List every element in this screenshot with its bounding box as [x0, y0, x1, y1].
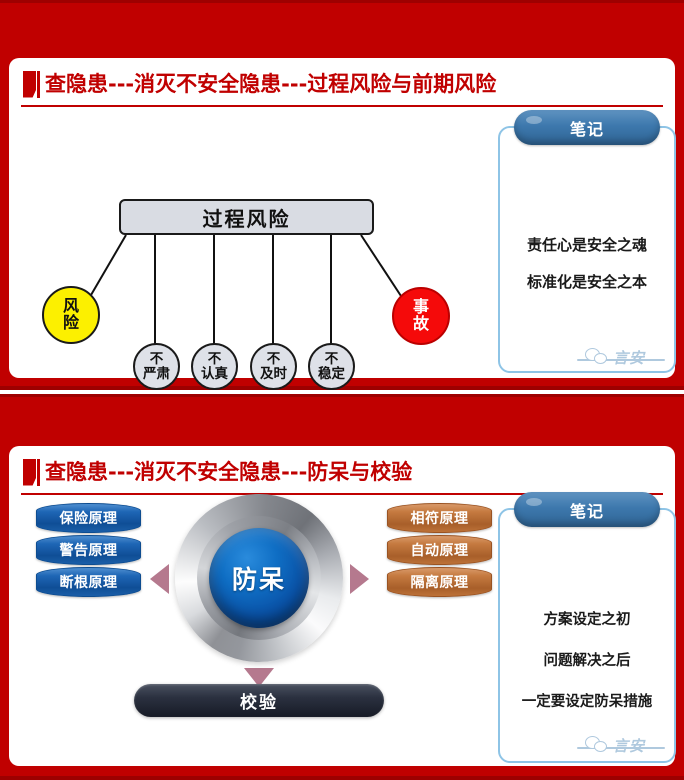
arrow-right-icon [350, 564, 369, 594]
right-principles-stack: 相符原理 自动原理 隔离原理 [387, 503, 492, 597]
slide2-notes-panel: 笔记 方案设定之初 问题解决之后 一定要设定防呆措施 [498, 508, 676, 763]
notes-header-badge: 笔记 [514, 492, 660, 527]
branch-line2: 稳定 [318, 367, 345, 381]
wechat-bubbles-icon: 言安 [577, 734, 665, 760]
wechat-bubbles-icon: 言安 [577, 346, 665, 372]
node-risk-line2: 险 [63, 315, 79, 332]
poka-yoke-diagram: 保险原理 警告原理 断根原理 相符原理 自动原理 隔离原理 防呆 校验 [9, 446, 489, 766]
process-risk-header-box: 过程风险 [119, 199, 374, 235]
notes-line: 标准化是安全之本 [527, 271, 647, 292]
branch-line2: 认真 [201, 367, 228, 381]
node-branch: 不 严肃 [133, 343, 180, 390]
slide-process-risk: 查隐患---消灭不安全隐患---过程风险与前期风险 过程风险 风 险 事 故 [0, 0, 684, 390]
center-ring-graphic: 防呆 [175, 494, 343, 662]
principle-item: 相符原理 [387, 503, 492, 533]
node-accident-line2: 故 [413, 316, 429, 333]
principle-item: 自动原理 [387, 535, 492, 565]
branch-line2: 严肃 [143, 367, 170, 381]
slide2-top-strip [0, 394, 684, 397]
principle-item: 保险原理 [36, 503, 141, 533]
branch-line2: 及时 [260, 367, 287, 381]
notes-header-badge: 笔记 [514, 110, 660, 145]
slide2-card: 查隐患---消灭不安全隐患---防呆与校验 保险原理 警告原理 断根原理 相符原… [9, 446, 675, 766]
branch-line1: 不 [267, 352, 281, 366]
principle-item: 警告原理 [36, 535, 141, 565]
watermark-text: 言安 [613, 735, 645, 756]
notes-line: 问题解决之后 [544, 649, 631, 670]
node-risk: 风 险 [42, 286, 100, 344]
node-branch: 不 及时 [250, 343, 297, 390]
node-branch: 不 稳定 [308, 343, 355, 390]
arrow-left-icon [150, 564, 169, 594]
center-blue-sphere: 防呆 [209, 528, 309, 628]
node-accident: 事 故 [392, 287, 450, 345]
center-label: 防呆 [232, 560, 286, 596]
slide1-top-strip [0, 0, 684, 3]
branch-line1: 不 [150, 352, 164, 366]
left-principles-stack: 保险原理 警告原理 断根原理 [36, 503, 141, 597]
slide1-card: 查隐患---消灭不安全隐患---过程风险与前期风险 过程风险 风 险 事 故 [9, 58, 675, 378]
node-branch: 不 认真 [191, 343, 238, 390]
watermark-text: 言安 [613, 347, 645, 368]
notes-line: 方案设定之初 [544, 608, 631, 629]
verify-pill: 校验 [134, 684, 384, 717]
principle-item: 隔离原理 [387, 567, 492, 597]
branch-line1: 不 [325, 352, 339, 366]
notes-body: 责任心是安全之魂 标准化是安全之本 [500, 188, 674, 338]
slide1-notes-panel: 笔记 责任心是安全之魂 标准化是安全之本 [498, 126, 676, 373]
notes-line: 一定要设定防呆措施 [522, 690, 653, 711]
process-risk-diagram: 过程风险 风 险 事 故 不 严肃 不 认真 不 及时 不 [9, 58, 489, 358]
branch-line1: 不 [208, 352, 222, 366]
notes-body: 方案设定之初 问题解决之后 一定要设定防呆措施 [500, 572, 674, 747]
notes-line: 责任心是安全之魂 [527, 234, 647, 255]
principle-item: 断根原理 [36, 567, 141, 597]
slide-poka-yoke: 查隐患---消灭不安全隐患---防呆与校验 保险原理 警告原理 断根原理 相符原… [0, 394, 684, 780]
slide2-bottom-strip [0, 776, 684, 780]
